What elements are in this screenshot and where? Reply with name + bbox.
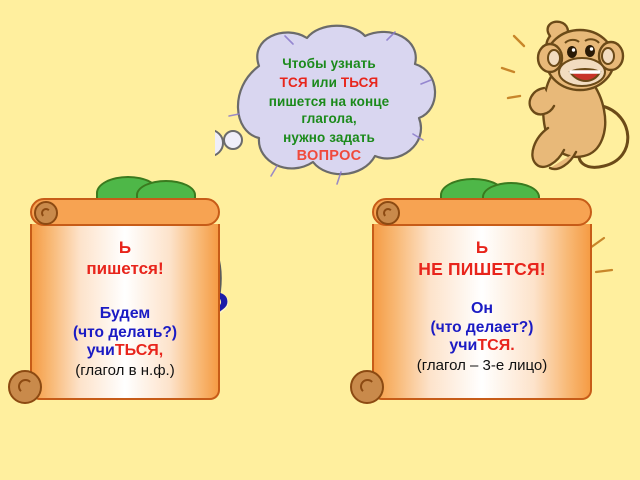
- thought-line-5: нужно задать: [283, 130, 375, 146]
- left-word-stem: учи: [87, 342, 115, 359]
- monkey-icon: [484, 10, 640, 190]
- left-example-word: учиТЬСЯ,: [40, 342, 210, 361]
- right-example-word: учиТСЯ.: [382, 337, 582, 356]
- right-scroll-top-bar: [372, 198, 592, 226]
- right-soft-sign: Ь: [382, 238, 582, 258]
- right-word-punct: .: [510, 337, 514, 354]
- left-note: (глагол в н.ф.): [40, 362, 210, 380]
- left-verdict: пишется!: [40, 259, 210, 279]
- left-question: (что делать?): [40, 324, 210, 342]
- thought-bubble-text: Чтобы узнать ТСЯ или ТЬСЯ пишется на кон…: [215, 22, 443, 200]
- tsya-soft-red: ТЬСЯ: [341, 75, 378, 90]
- left-spacer: [40, 279, 210, 305]
- left-word-punct: ,: [159, 342, 163, 359]
- thought-line-vopros: ВОПРОС: [297, 148, 362, 165]
- thought-line-2: ТСЯ или ТЬСЯ: [280, 75, 379, 91]
- slide-canvas: ? ? ? ? Чтобы узнать ТСЯ или ТЬСЯ пишетс…: [0, 0, 640, 480]
- scroll-curl-icon: [34, 201, 58, 225]
- scroll-curl-icon: [376, 201, 400, 225]
- left-scroll-body: Ь пишется! Будем (что делать?) учиТЬСЯ, …: [30, 224, 220, 400]
- right-question: (что делает?): [382, 319, 582, 337]
- right-word-suffix: ТСЯ: [477, 337, 510, 354]
- right-scroll-body: Ь НЕ ПИШЕТСЯ! Он (что делает?) учиТСЯ. (…: [372, 224, 592, 400]
- left-pronoun: Будем: [40, 305, 210, 324]
- right-spacer: [382, 280, 582, 300]
- scroll-bottom-curl-icon: [350, 370, 384, 404]
- thought-line-4: глагола,: [301, 111, 356, 127]
- right-verdict: НЕ ПИШЕТСЯ!: [382, 259, 582, 280]
- thought-line-1: Чтобы узнать: [282, 56, 376, 72]
- thought-bubble: Чтобы узнать ТСЯ или ТЬСЯ пишется на кон…: [215, 22, 443, 200]
- ili-green: или: [308, 75, 341, 90]
- left-soft-sign: Ь: [40, 238, 210, 258]
- left-word-suffix: ТЬСЯ: [115, 342, 159, 359]
- right-pronoun: Он: [382, 300, 582, 319]
- right-note: (глагол – 3-е лицо): [382, 357, 582, 375]
- thought-line-3: пишется на конце: [269, 94, 389, 110]
- left-scroll-card: Ь пишется! Будем (что делать?) учиТЬСЯ, …: [30, 198, 220, 400]
- right-word-stem: учи: [449, 337, 477, 354]
- tsya-red: ТСЯ: [280, 75, 308, 90]
- right-scroll-card: Ь НЕ ПИШЕТСЯ! Он (что делает?) учиТСЯ. (…: [372, 198, 592, 400]
- scroll-bottom-curl-icon: [8, 370, 42, 404]
- left-scroll-top-bar: [30, 198, 220, 226]
